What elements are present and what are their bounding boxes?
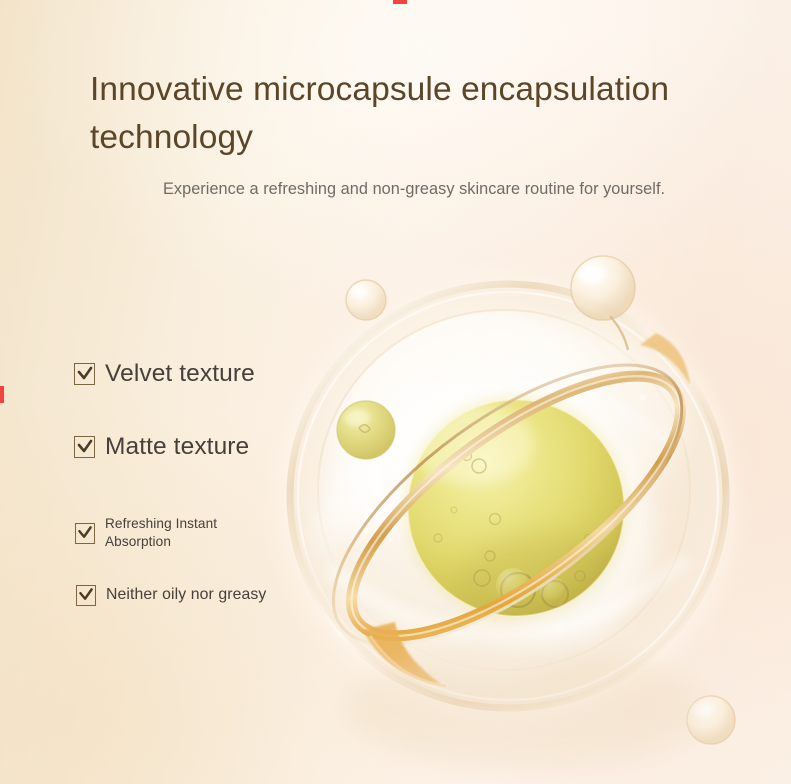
dish-cream-swirl-2: [428, 321, 688, 505]
droplet-left-yellow: [337, 401, 395, 459]
sphere-shadow: [452, 534, 644, 646]
orbit-ring-band: [314, 331, 718, 681]
dish-outer-glow: [282, 278, 734, 718]
dish-inner-edge: [318, 310, 690, 670]
dish-cream-swirl-1: [313, 398, 653, 678]
droplet-bottom-right: [687, 696, 735, 744]
page-title: Innovative microcapsule encapsulation te…: [90, 66, 715, 161]
checkbox-checked-icon[interactable]: [74, 436, 95, 458]
dish-inner-arc: [328, 558, 688, 636]
orbit-ring-lower-accent: [363, 622, 441, 684]
feature-label: Refreshing Instant Absorption: [105, 515, 255, 552]
feature-item-velvet-texture[interactable]: Velvet texture: [74, 360, 255, 388]
dish-inner-arc-2: [344, 380, 678, 448]
dish-ground-shadow: [346, 648, 706, 768]
dish-cream-swirl-3: [288, 528, 528, 668]
product-feature-poster: Innovative microcapsule encapsulation te…: [0, 0, 791, 784]
page-subtitle: Experience a refreshing and non-greasy s…: [163, 178, 763, 201]
orbit-ring-upper-accent: [640, 333, 690, 385]
golden-orbit-ring: [290, 314, 724, 695]
crop-marker-top: [393, 0, 407, 4]
sphere-specular: [410, 404, 534, 484]
sphere-inner-bubbles: [434, 452, 592, 669]
crop-marker-left: [0, 386, 4, 403]
check-glyph: [78, 525, 93, 540]
droplet-top-left: [346, 280, 386, 320]
microcapsule-product-illustration: [258, 238, 791, 784]
feature-item-matte-texture[interactable]: Matte texture: [74, 433, 249, 461]
check-glyph: [77, 366, 93, 382]
checkbox-checked-icon[interactable]: [76, 585, 96, 606]
orbit-ring-highlight: [314, 331, 718, 681]
orbit-ring-lower-accent-2: [370, 636, 446, 686]
check-glyph: [77, 439, 93, 455]
outer-glass-dish-rim: [290, 284, 726, 708]
feature-label: Neither oily nor greasy: [106, 586, 266, 605]
outer-glass-dish: [290, 284, 726, 708]
feature-item-neither-oily-nor-greasy[interactable]: Neither oily nor greasy: [76, 585, 266, 606]
dish-sparkle-specks: [362, 378, 646, 636]
feature-label: Velvet texture: [105, 360, 255, 388]
droplet-top-right: [571, 256, 635, 350]
feature-label: Matte texture: [105, 433, 249, 461]
orbit-wire-ring: [290, 314, 724, 695]
feature-item-refreshing-instant-absorption[interactable]: Refreshing Instant Absorption: [75, 515, 255, 552]
yellow-oil-sphere: [404, 396, 644, 668]
dish-rim-highlight: [298, 292, 718, 700]
checkbox-checked-icon[interactable]: [74, 363, 95, 385]
check-glyph: [79, 588, 94, 603]
checkbox-checked-icon[interactable]: [75, 523, 95, 544]
dish-inner-basin: [318, 310, 690, 670]
